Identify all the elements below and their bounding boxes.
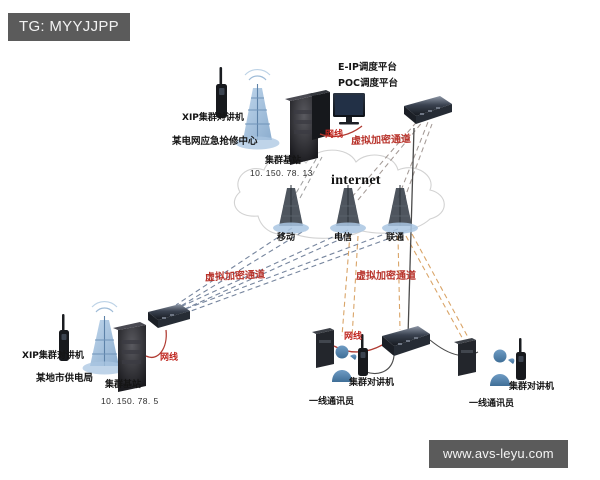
platform-label-eip: E-IP调度平台: [338, 63, 397, 73]
cable-label-topleft: 网线: [325, 131, 343, 140]
carrier-label-unicom: 联通: [386, 234, 404, 243]
internet-cloud-label: internet: [331, 173, 381, 189]
carrier-label-telecom: 电信: [334, 234, 352, 243]
cable-label-bottomleft: 网线: [160, 354, 178, 363]
radio-label-topleft: XIP集群对讲机: [182, 114, 244, 123]
cable-link-radio-a: [366, 356, 394, 373]
site-label-bottomleft: 某地市供电局: [36, 374, 93, 384]
gateway-router-bottomright: [382, 326, 430, 356]
encrypted-channel-label-top: 虚拟加密通道: [351, 135, 411, 147]
device-label-bottomright-b: 集群对讲机: [509, 383, 554, 392]
person-label-bottomright-a: 一线通讯员: [309, 398, 354, 407]
gateway-router-bottomleft: [148, 304, 190, 328]
tg-badge: TG: MYYJJPP: [8, 13, 130, 41]
cable-label-bottomright: 网线: [344, 333, 362, 342]
encrypted-channel-label-right: 虚拟加密通道: [356, 272, 416, 282]
ip-label-bottomleft: 10. 150. 78. 5: [101, 397, 159, 406]
person-operator-a: [332, 346, 356, 383]
carrier-label-mobile: 移动: [277, 234, 295, 243]
cluster-radio-b: [516, 338, 526, 380]
field-terminal-a: [312, 328, 334, 368]
gateway-router-topright: [404, 96, 452, 124]
device-label-bottomright-a: 集群对讲机: [349, 379, 394, 388]
platform-label-poc: POC调度平台: [338, 79, 398, 89]
diagram-canvas: internet 移动 电信 联通 XIP集群对讲机 某电网应急抢修中心 集群基…: [0, 0, 600, 480]
base-station-label-topleft: 集群基站: [265, 157, 301, 166]
person-operator-b: [490, 350, 514, 387]
base-station-label-bottomleft: 集群基站: [105, 381, 141, 390]
person-label-bottomright-b: 一线通讯员: [469, 400, 514, 409]
site-watermark: www.avs-leyu.com: [429, 440, 568, 468]
radio-label-bottomleft: XIP集群对讲机: [22, 352, 84, 361]
field-terminal-b: [454, 338, 476, 376]
ip-label-topleft: 10. 150. 78. 13: [250, 169, 313, 178]
xip-handheld-radio-topleft: [216, 67, 227, 118]
site-label-topleft: 某电网应急抢修中心: [172, 137, 258, 147]
